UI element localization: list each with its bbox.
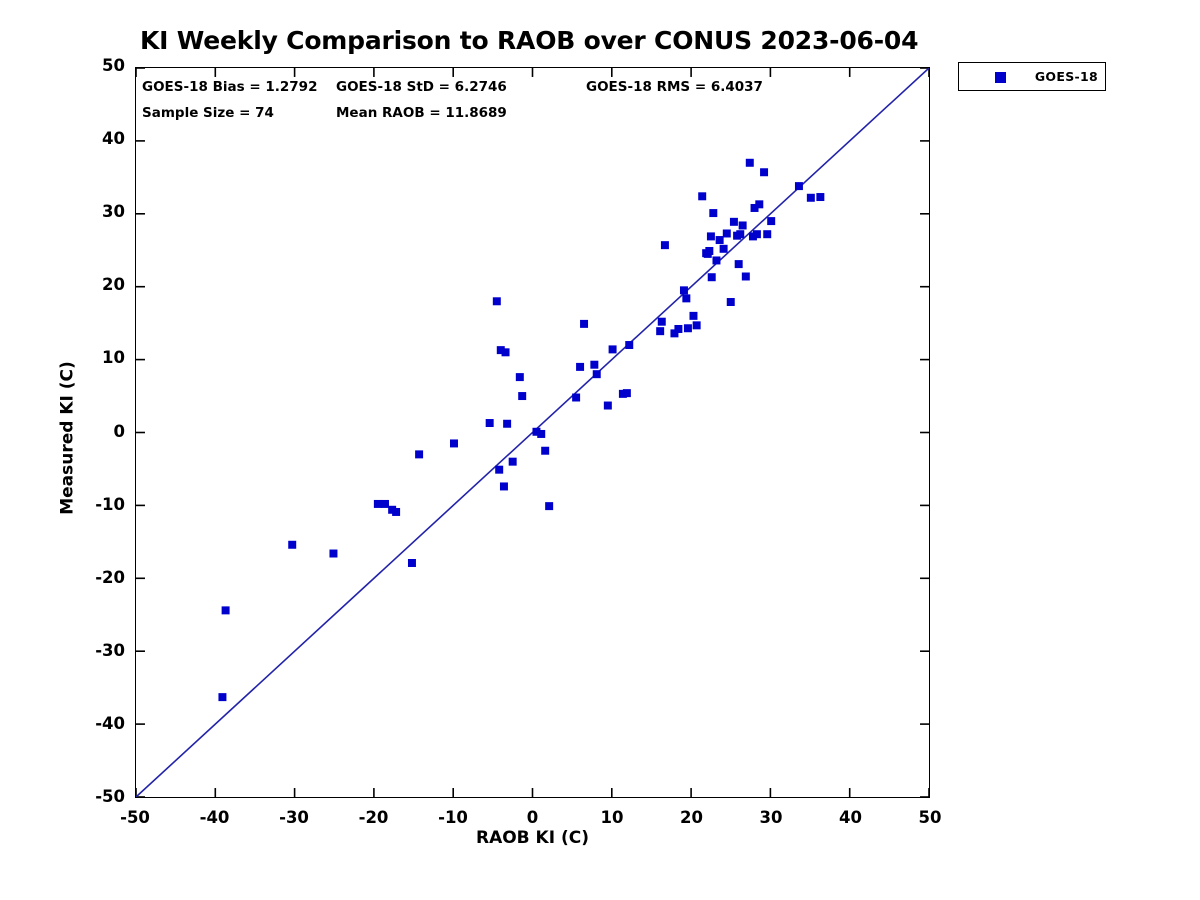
x-tick-label: 10 [572, 808, 652, 827]
plot-canvas [136, 68, 929, 797]
x-axis-title: RAOB KI (C) [135, 828, 930, 848]
data-point [625, 341, 633, 349]
x-tick-label: -40 [175, 808, 255, 827]
data-point [707, 232, 715, 240]
x-tick-label: -20 [334, 808, 414, 827]
stat-sample-size: Sample Size = 74 [142, 105, 274, 121]
data-point [720, 245, 728, 253]
data-point [661, 241, 669, 249]
y-axis-title: Measured KI (C) [58, 73, 78, 804]
data-point [698, 192, 706, 200]
data-point [486, 419, 494, 427]
data-point [705, 247, 713, 255]
data-point [674, 325, 682, 333]
data-point [760, 168, 768, 176]
data-point [450, 439, 458, 447]
page-title: KI Weekly Comparison to RAOB over CONUS … [140, 26, 940, 55]
data-point [658, 318, 666, 326]
stat-mean-raob: Mean RAOB = 11.8689 [336, 105, 507, 121]
data-point [590, 361, 598, 369]
data-point [755, 200, 763, 208]
data-point [709, 209, 717, 217]
data-point [693, 321, 701, 329]
data-point [735, 260, 743, 268]
data-point [680, 286, 688, 294]
data-point [502, 348, 510, 356]
data-point [374, 500, 382, 508]
x-tick-label: -30 [254, 808, 334, 827]
data-point [816, 193, 824, 201]
plot-area [135, 67, 930, 798]
data-point [503, 420, 511, 428]
data-point [500, 482, 508, 490]
stat-rms: GOES-18 RMS = 6.4037 [586, 79, 763, 95]
data-point [684, 324, 692, 332]
data-point [415, 450, 423, 458]
data-point [708, 273, 716, 281]
data-point [509, 458, 517, 466]
data-point [730, 218, 738, 226]
scatter-points [218, 159, 824, 701]
legend-label: GOES-18 [1035, 69, 1098, 84]
data-point [288, 541, 296, 549]
data-point [392, 508, 400, 516]
legend-box: GOES-18 [958, 62, 1106, 91]
data-point [580, 320, 588, 328]
data-point [572, 394, 580, 402]
data-point [576, 363, 584, 371]
data-point [623, 389, 631, 397]
data-point [739, 221, 747, 229]
data-point [795, 182, 803, 190]
x-tick-label: 0 [493, 808, 573, 827]
data-point [516, 373, 524, 381]
data-point [408, 559, 416, 567]
data-point [723, 229, 731, 237]
data-point [222, 606, 230, 614]
data-point [493, 297, 501, 305]
data-point [746, 159, 754, 167]
data-point [593, 370, 601, 378]
data-point [682, 294, 690, 302]
chart-figure: KI Weekly Comparison to RAOB over CONUS … [0, 0, 1200, 900]
x-tick-label: 20 [652, 808, 732, 827]
data-point [712, 256, 720, 264]
data-point [689, 312, 697, 320]
data-point [329, 550, 337, 558]
data-point [495, 466, 503, 474]
x-tick-label: -10 [413, 808, 493, 827]
data-point [763, 230, 771, 238]
data-point [753, 230, 761, 238]
data-point [727, 298, 735, 306]
legend-marker-icon [995, 72, 1006, 83]
x-tick-label: 50 [890, 808, 970, 827]
data-point [541, 447, 549, 455]
data-point [604, 402, 612, 410]
x-tick-label: -50 [95, 808, 175, 827]
stat-std: GOES-18 StD = 6.2746 [336, 79, 507, 95]
data-point [518, 392, 526, 400]
data-point [656, 327, 664, 335]
stat-bias: GOES-18 Bias = 1.2792 [142, 79, 317, 95]
data-point [742, 273, 750, 281]
data-point [716, 236, 724, 244]
data-point [807, 194, 815, 202]
x-tick-label: 30 [731, 808, 811, 827]
data-point [537, 430, 545, 438]
data-point [609, 345, 617, 353]
data-point [767, 217, 775, 225]
data-point [218, 693, 226, 701]
data-point [736, 230, 744, 238]
data-point [381, 500, 389, 508]
x-tick-label: 40 [811, 808, 891, 827]
data-point [545, 502, 553, 510]
